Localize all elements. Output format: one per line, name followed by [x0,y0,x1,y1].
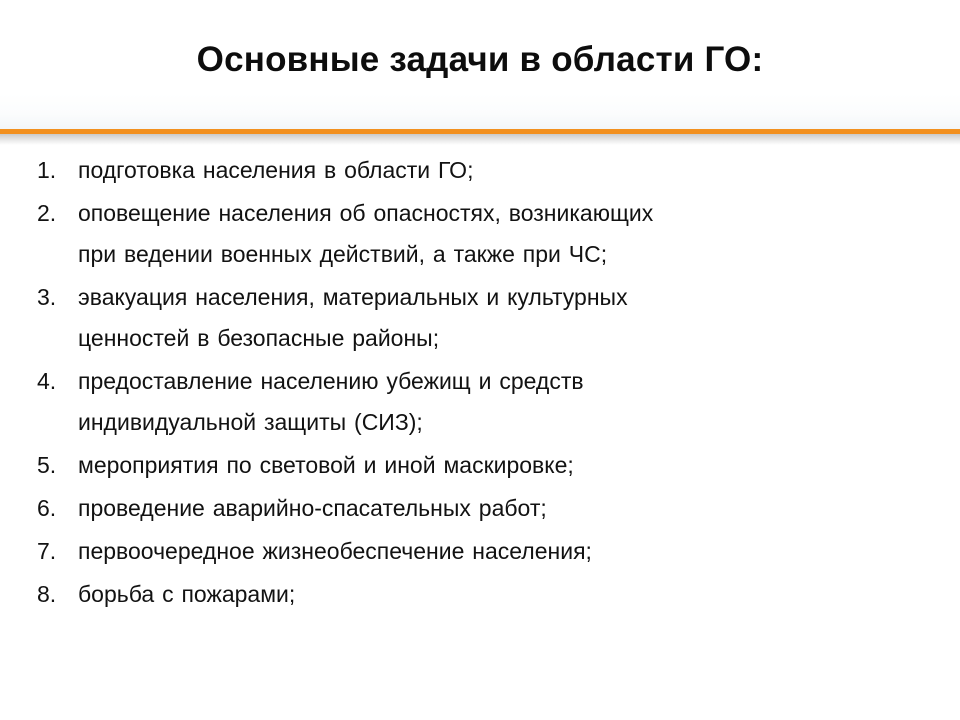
task-list: 1.подготовка населения в области ГО;2.оп… [30,150,930,617]
list-item-line: предоставление населению убежищ и средст… [78,361,930,402]
list-item-number: 5. [30,445,78,486]
list-item-number: 1. [30,150,78,191]
list-item-text: эвакуация населения, материальных и куль… [78,277,930,359]
list-item: 2.оповещение населения об опасностях, во… [30,193,930,275]
list-item: 5.мероприятия по световой и иной маскиро… [30,445,930,486]
list-item-text: предоставление населению убежищ и средст… [78,361,930,443]
divider-shadow [0,134,960,145]
list-item-line: эвакуация населения, материальных и куль… [78,277,930,318]
list-item: 4.предоставление населению убежищ и сред… [30,361,930,443]
list-item-number: 6. [30,488,78,529]
list-item-number: 4. [30,361,78,402]
list-item-line: борьба с пожарами; [78,574,930,615]
list-item-text: мероприятия по световой и иной маскировк… [78,445,930,486]
list-item-line: ценностей в безопасные районы; [78,318,930,359]
list-item-number: 3. [30,277,78,318]
list-item: 3.эвакуация населения, материальных и ку… [30,277,930,359]
list-item-text: проведение аварийно-спасательных работ; [78,488,930,529]
list-item-line: проведение аварийно-спасательных работ; [78,488,930,529]
list-item: 1.подготовка населения в области ГО; [30,150,930,191]
page-title: Основные задачи в области ГО: [0,40,960,80]
list-item-text: подготовка населения в области ГО; [78,150,930,191]
list-item: 8.борьба с пожарами; [30,574,930,615]
list-item: 6.проведение аварийно-спасательных работ… [30,488,930,529]
list-item-number: 2. [30,193,78,234]
presentation-slide: Основные задачи в области ГО: 1.подготов… [0,0,960,720]
list-item-line: при ведении военных действий, а также пр… [78,234,930,275]
list-item-text: оповещение населения об опасностях, возн… [78,193,930,275]
list-item-line: подготовка населения в области ГО; [78,150,930,191]
list-item-number: 7. [30,531,78,572]
list-item-line: первоочередное жизнеобеспечение населени… [78,531,930,572]
list-item-text: первоочередное жизнеобеспечение населени… [78,531,930,572]
list-item-line: индивидуальной защиты (СИЗ); [78,402,930,443]
list-item-text: борьба с пожарами; [78,574,930,615]
list-item-number: 8. [30,574,78,615]
slide-header: Основные задачи в области ГО: [0,0,960,130]
list-item-line: мероприятия по световой и иной маскировк… [78,445,930,486]
title-divider [0,129,960,145]
list-item-line: оповещение населения об опасностях, возн… [78,193,930,234]
list-item: 7.первоочередное жизнеобеспечение населе… [30,531,930,572]
